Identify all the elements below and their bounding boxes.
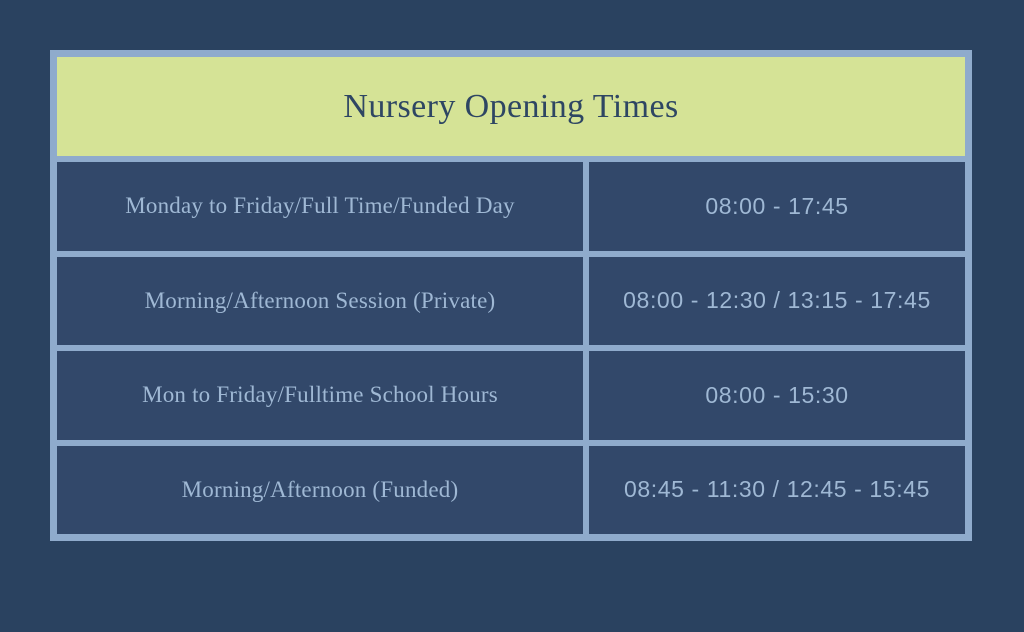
card-header: Nursery Opening Times bbox=[57, 57, 965, 156]
table-row: Mon to Friday/Fulltime School Hours 08:0… bbox=[57, 351, 965, 440]
table-cell-session-time: 08:45 - 11:30 / 12:45 - 15:45 bbox=[589, 446, 965, 535]
table-cell-session-label: Monday to Friday/Full Time/Funded Day bbox=[57, 162, 583, 251]
table-row: Morning/Afternoon Session (Private) 08:0… bbox=[57, 257, 965, 346]
opening-times-table: Monday to Friday/Full Time/Funded Day 08… bbox=[57, 162, 965, 534]
table-row: Monday to Friday/Full Time/Funded Day 08… bbox=[57, 162, 965, 251]
table-cell-session-label: Mon to Friday/Fulltime School Hours bbox=[57, 351, 583, 440]
nursery-opening-times-card: Nursery Opening Times Monday to Friday/F… bbox=[50, 50, 972, 541]
table-cell-session-time: 08:00 - 15:30 bbox=[589, 351, 965, 440]
table-row: Morning/Afternoon (Funded) 08:45 - 11:30… bbox=[57, 446, 965, 535]
table-cell-session-time: 08:00 - 12:30 / 13:15 - 17:45 bbox=[589, 257, 965, 346]
table-cell-session-label: Morning/Afternoon (Funded) bbox=[57, 446, 583, 535]
page-title: Nursery Opening Times bbox=[343, 90, 678, 124]
table-cell-session-time: 08:00 - 17:45 bbox=[589, 162, 965, 251]
table-cell-session-label: Morning/Afternoon Session (Private) bbox=[57, 257, 583, 346]
